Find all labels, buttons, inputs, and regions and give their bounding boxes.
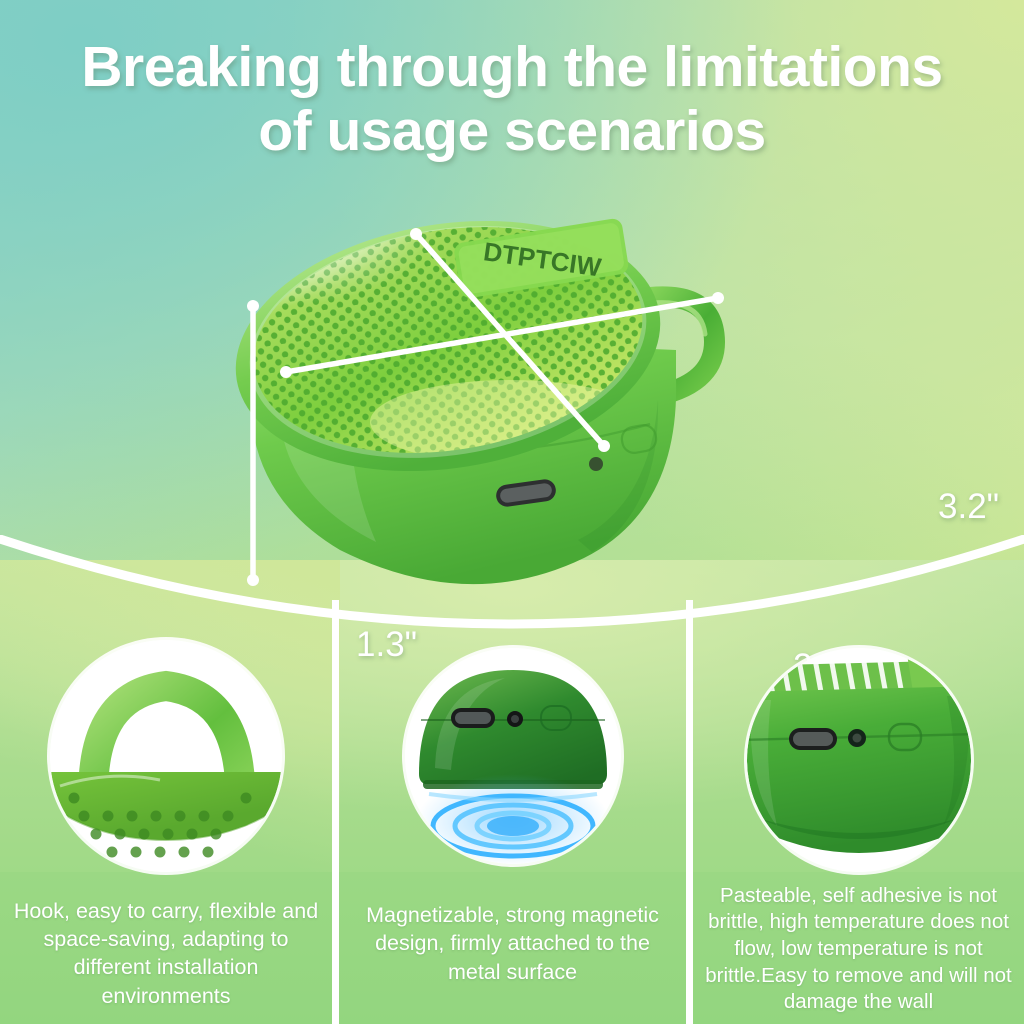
feature-panels: Hook, easy to carry, flexible and space-… — [0, 600, 1024, 1024]
panel-divider-1 — [332, 600, 339, 1024]
feature-image-adhesive — [747, 648, 971, 872]
mic-hole-icon — [589, 457, 603, 471]
hook-loop-icon — [50, 640, 282, 872]
feature-image-hook — [50, 640, 282, 872]
panel-divider-2 — [686, 600, 693, 1024]
feature-panel-adhesive: Pasteable, self adhesive is not brittle,… — [693, 600, 1024, 1024]
page-title-line2: of usage scenarios — [18, 100, 1006, 164]
feature-image-magnet — [405, 648, 621, 864]
usb-c-port-icon — [451, 708, 495, 728]
feature-caption-adhesive: Pasteable, self adhesive is not brittle,… — [701, 883, 1016, 1016]
feature-panel-magnet: Magnetizable, strong magnetic design, fi… — [339, 600, 686, 1024]
feature-panel-hook: Hook, easy to carry, flexible and space-… — [0, 600, 332, 1024]
feature-caption-hook: Hook, easy to carry, flexible and space-… — [8, 897, 324, 1011]
side-port-icon — [747, 648, 971, 872]
feature-caption-magnet: Magnetizable, strong magnetic design, fi… — [347, 901, 678, 986]
speaker-illustration: DTPTCIW — [180, 210, 860, 610]
page-title-line1: Breaking through the limitations — [18, 36, 1006, 100]
speaker-side-body — [747, 686, 971, 853]
dimension-diameter-label: 3.2" — [938, 487, 999, 527]
usb-c-port-icon — [789, 728, 837, 750]
magnetic-ripple-icon — [405, 648, 621, 864]
product-hero: DTPTCIW 1.3" 2.7" 3.2" — [180, 210, 860, 610]
product-infographic: Breaking through the limitations of usag… — [0, 0, 1024, 1024]
page-title: Breaking through the limitations of usag… — [0, 36, 1024, 164]
